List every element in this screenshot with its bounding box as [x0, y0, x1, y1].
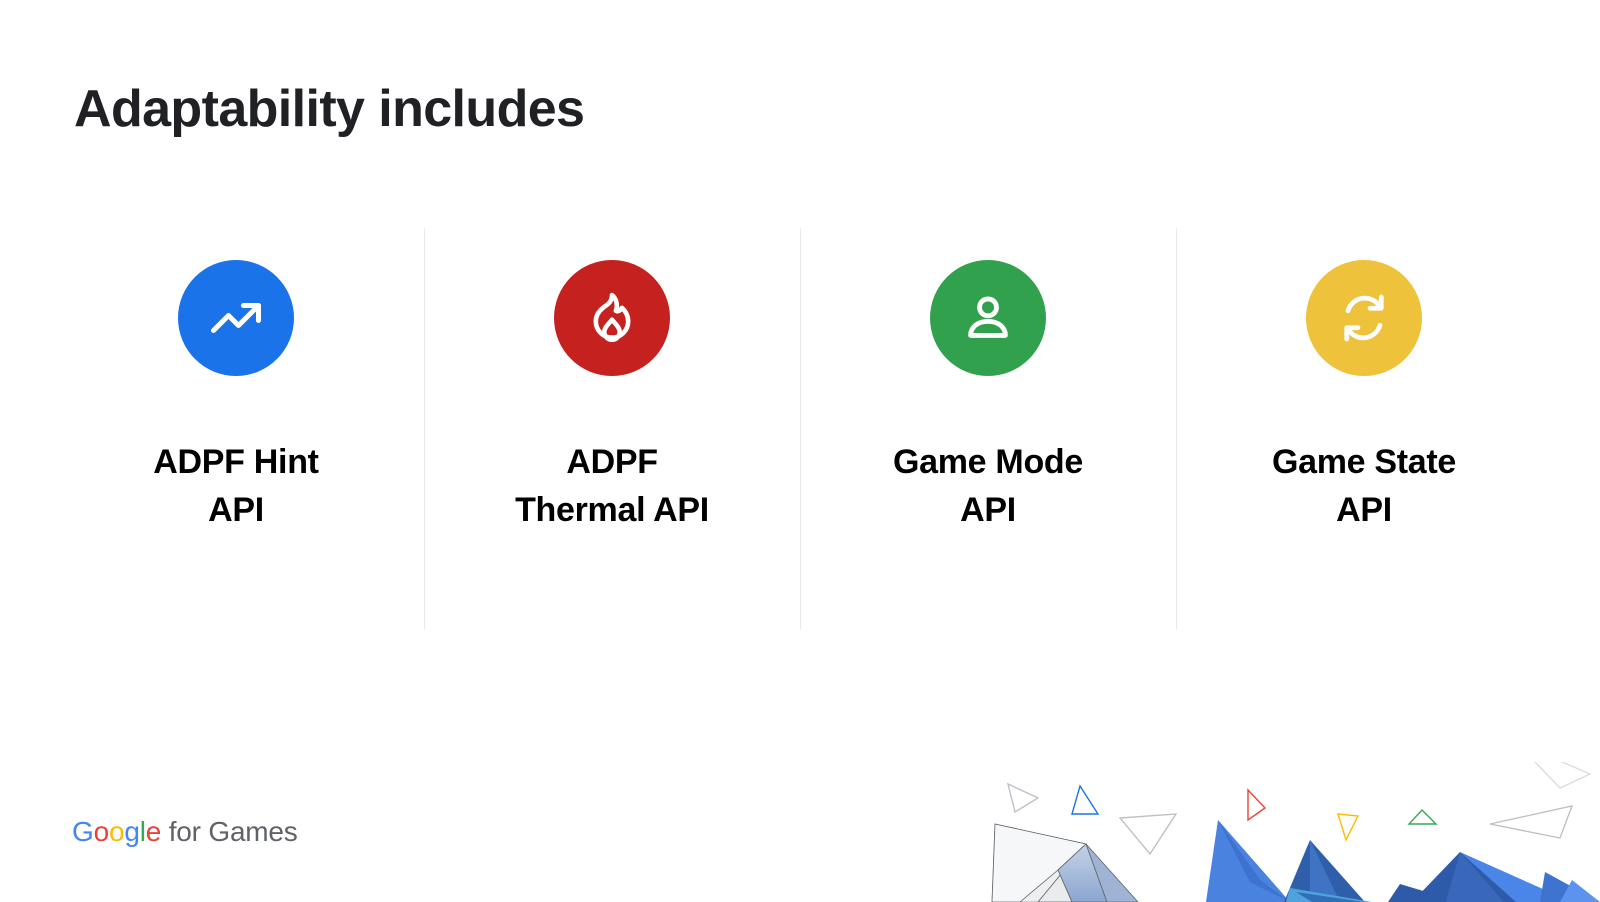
decor-accent-triangles — [1008, 762, 1590, 854]
api-card-game-mode[interactable]: Game Mode API — [800, 228, 1176, 630]
google-for-games-logo: Google for Games — [72, 818, 298, 846]
api-card-adpf-hint[interactable]: ADPF Hint API — [48, 228, 424, 630]
logo-suffix: for Games — [161, 816, 297, 847]
api-card-row: ADPF Hint API ADPF Thermal API — [48, 228, 1552, 630]
person-icon — [959, 289, 1017, 347]
wordmark-letter-g: G — [72, 816, 94, 847]
blue-triangle-icon — [1072, 786, 1098, 814]
icon-circle-person — [930, 260, 1046, 376]
yellow-triangle-icon — [1338, 814, 1358, 840]
wordmark-letter-o2: o — [109, 816, 124, 847]
api-card-game-state[interactable]: Game State API — [1176, 228, 1552, 630]
decor-blue-polygons-center — [1206, 820, 1372, 902]
grey-triangle-2-icon — [1120, 814, 1176, 854]
decor-grey-polygons — [992, 824, 1138, 902]
icon-circle-sync — [1306, 260, 1422, 376]
api-card-label: ADPF Thermal API — [515, 438, 709, 535]
wordmark-letter-g2: g — [124, 816, 139, 847]
page-title: Adaptability includes — [74, 80, 584, 140]
green-triangle-icon — [1409, 810, 1436, 824]
low-poly-decoration — [960, 762, 1600, 902]
api-card-label: Game State API — [1272, 438, 1456, 535]
slide-canvas: Adaptability includes ADPF Hint API — [0, 0, 1600, 902]
icon-circle-flame — [554, 260, 670, 376]
grey-triangle-4-icon — [1516, 762, 1590, 788]
decor-blue-polygons-right — [1388, 852, 1600, 902]
wordmark-letter-o1: o — [94, 816, 109, 847]
grey-triangle-3-icon — [1490, 806, 1572, 838]
red-triangle-icon — [1248, 790, 1265, 820]
api-card-label: ADPF Hint API — [153, 438, 318, 535]
grey-triangle-icon — [1008, 784, 1038, 812]
sync-refresh-icon — [1334, 288, 1394, 348]
icon-circle-trending-up — [178, 260, 294, 376]
api-card-label: Game Mode API — [893, 438, 1083, 535]
api-card-adpf-thermal[interactable]: ADPF Thermal API — [424, 228, 800, 630]
trending-up-icon — [206, 288, 266, 348]
flame-icon — [583, 289, 641, 347]
google-wordmark: Google — [72, 816, 161, 847]
wordmark-letter-e: e — [146, 816, 161, 847]
